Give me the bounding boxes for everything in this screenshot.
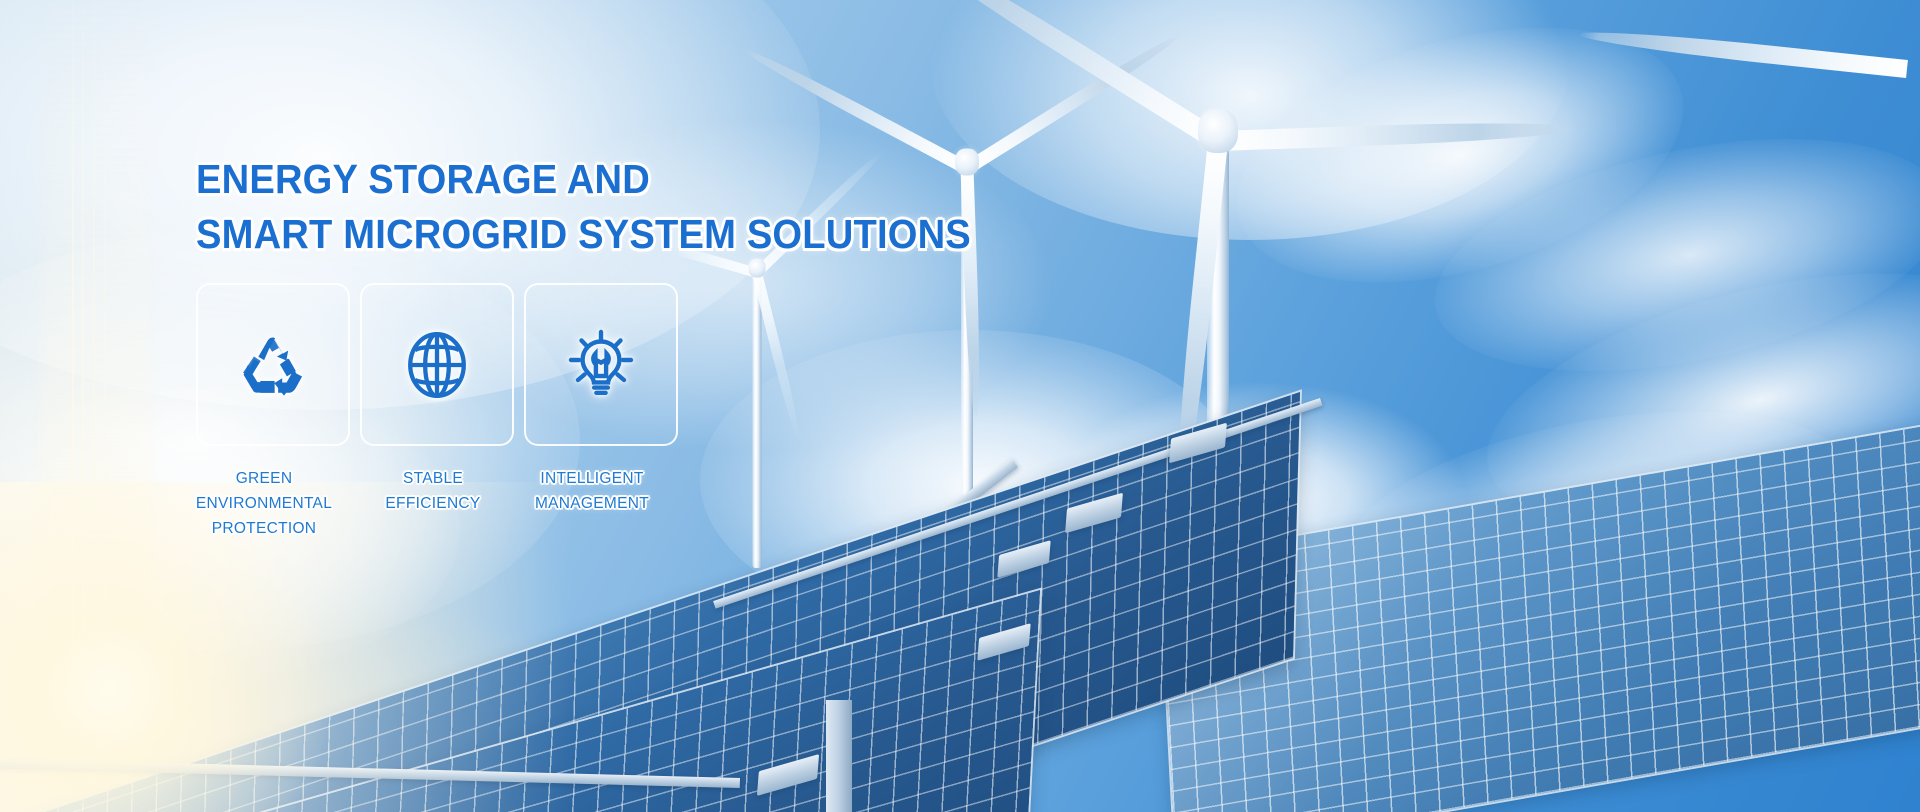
headline-line-2: SMART MICROGRID SYSTEM SOLUTIONS [196, 207, 791, 262]
feature-card-caption: STABLE EFFICIENCY [348, 467, 518, 517]
headline-line-1: ENERGY STORAGE AND [196, 152, 791, 207]
flare-streak [72, 0, 74, 720]
feature-card-stable-efficiency[interactable]: STABLE EFFICIENCY [360, 283, 514, 541]
globe-icon [400, 328, 474, 402]
flare-streak [104, 0, 106, 720]
feature-card-frame[interactable] [196, 283, 350, 446]
banner-stage: ENERGY STORAGE AND SMART MICROGRID SYSTE… [0, 0, 1920, 812]
feature-card-green-environmental-protection[interactable]: GREEN ENVIRONMENTAL PROTECTION [196, 283, 350, 541]
banner-content: ENERGY STORAGE AND SMART MICROGRID SYSTE… [196, 152, 836, 261]
flare-streak [82, 0, 84, 720]
recycle-icon [236, 328, 310, 402]
feature-card-frame[interactable] [360, 283, 514, 446]
flare-streak [93, 0, 95, 720]
feature-card-intelligent-management[interactable]: INTELLIGENT MANAGEMENT [524, 283, 678, 541]
feature-card-caption: GREEN ENVIRONMENTAL PROTECTION [169, 467, 359, 541]
feature-card-caption: INTELLIGENT MANAGEMENT [497, 467, 687, 517]
feature-card-frame[interactable] [524, 283, 678, 446]
feature-card-list: GREEN ENVIRONMENTAL PROTECTION [196, 283, 678, 541]
banner-headline: ENERGY STORAGE AND SMART MICROGRID SYSTE… [196, 152, 791, 261]
lightbulb-idea-icon [564, 328, 638, 402]
panel-main-post [826, 700, 852, 812]
